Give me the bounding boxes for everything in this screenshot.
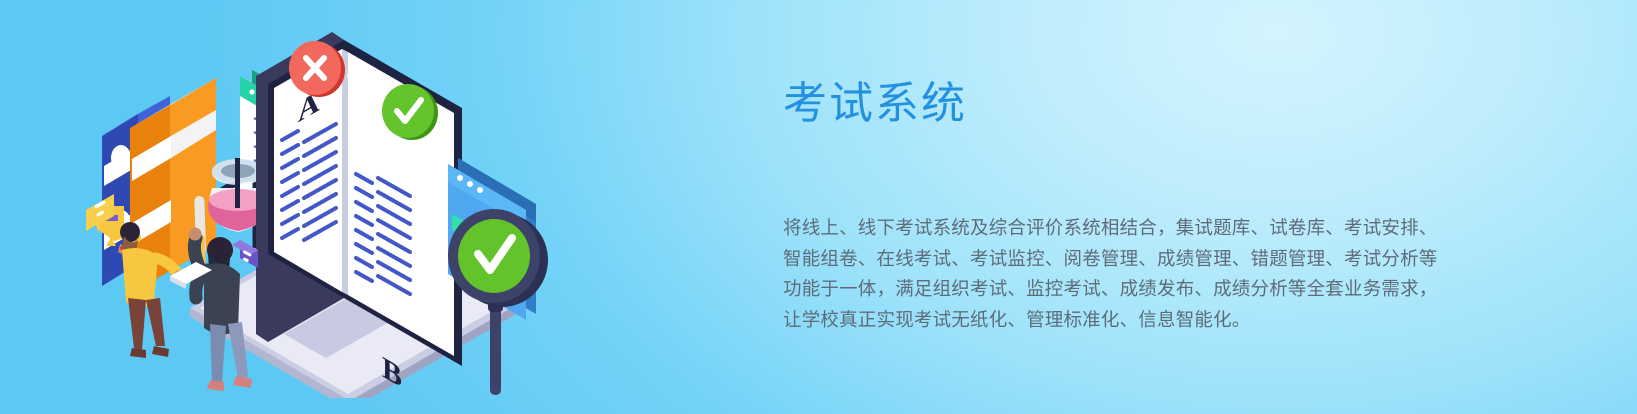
description-line-4: 让学校真正实现考试无纸化、管理标准化、信息智能化。 <box>783 305 1495 336</box>
description-line-2: 智能组卷、在线考试、考试监控、阅卷管理、成绩管理、错题管理、考试分析等 <box>783 244 1495 275</box>
exam-system-illustration: A B <box>70 18 630 398</box>
page-title: 考试系统 <box>783 78 1503 131</box>
description-line-3: 功能于一体，满足组织考试、监控考试、成绩发布、成绩分析等全套业务需求， <box>783 274 1495 305</box>
description-paragraph: 将线上、线下考试系统及综合评价系统相结合，集试题库、试卷库、考试安排、 智能组卷… <box>783 213 1495 335</box>
hero-banner: A B <box>0 0 1637 414</box>
description-line-1: 将线上、线下考试系统及综合评价系统相结合，集试题库、试卷库、考试安排、 <box>783 213 1495 244</box>
hero-copy: 考试系统 将线上、线下考试系统及综合评价系统相结合，集试题库、试卷库、考试安排、… <box>783 78 1503 131</box>
hero-description: 将线上、线下考试系统及综合评价系统相结合，集试题库、试卷库、考试安排、 智能组卷… <box>783 213 1495 335</box>
